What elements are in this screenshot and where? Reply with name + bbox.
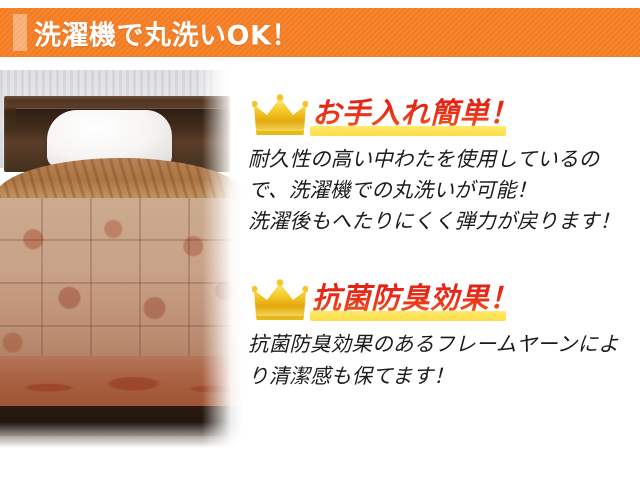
feature-list: お手入れ簡単！ 耐久性の高い中わたを使用しているので、洗濯機での丸洗いが可能！ …: [248, 92, 636, 392]
header-accent-bar: [13, 14, 27, 51]
crown-icon: [252, 279, 308, 321]
feature-body-text: 抗菌防臭効果のあるフレームヤーンにより清潔感も保てます！: [248, 329, 636, 391]
feature-heading-row: 抗菌防臭効果！: [248, 277, 636, 323]
feature-section-easy-care: お手入れ簡単！ 耐久性の高い中わたを使用しているので、洗濯機での丸洗いが可能！ …: [248, 92, 636, 237]
feature-heading-row: お手入れ簡単！: [248, 92, 636, 138]
header-title: 洗濯機で丸洗いOK！: [34, 13, 299, 52]
feature-heading: お手入れ簡単！: [312, 95, 519, 132]
feature-section-antibacterial: 抗菌防臭効果！ 抗菌防臭効果のあるフレームヤーンにより清潔感も保てます！: [248, 277, 636, 391]
feature-body-text: 耐久性の高い中わたを使用しているので、洗濯機での丸洗いが可能！ 洗濯後もへたりに…: [248, 144, 636, 237]
photo-fade-right: [202, 70, 242, 448]
product-photo-bed: [0, 70, 242, 448]
feature-heading: 抗菌防臭効果！: [312, 280, 519, 317]
header-banner: 洗濯機で丸洗いOK！: [0, 8, 640, 57]
crown-icon: [252, 94, 308, 136]
photo-fade-bottom: [0, 422, 242, 448]
